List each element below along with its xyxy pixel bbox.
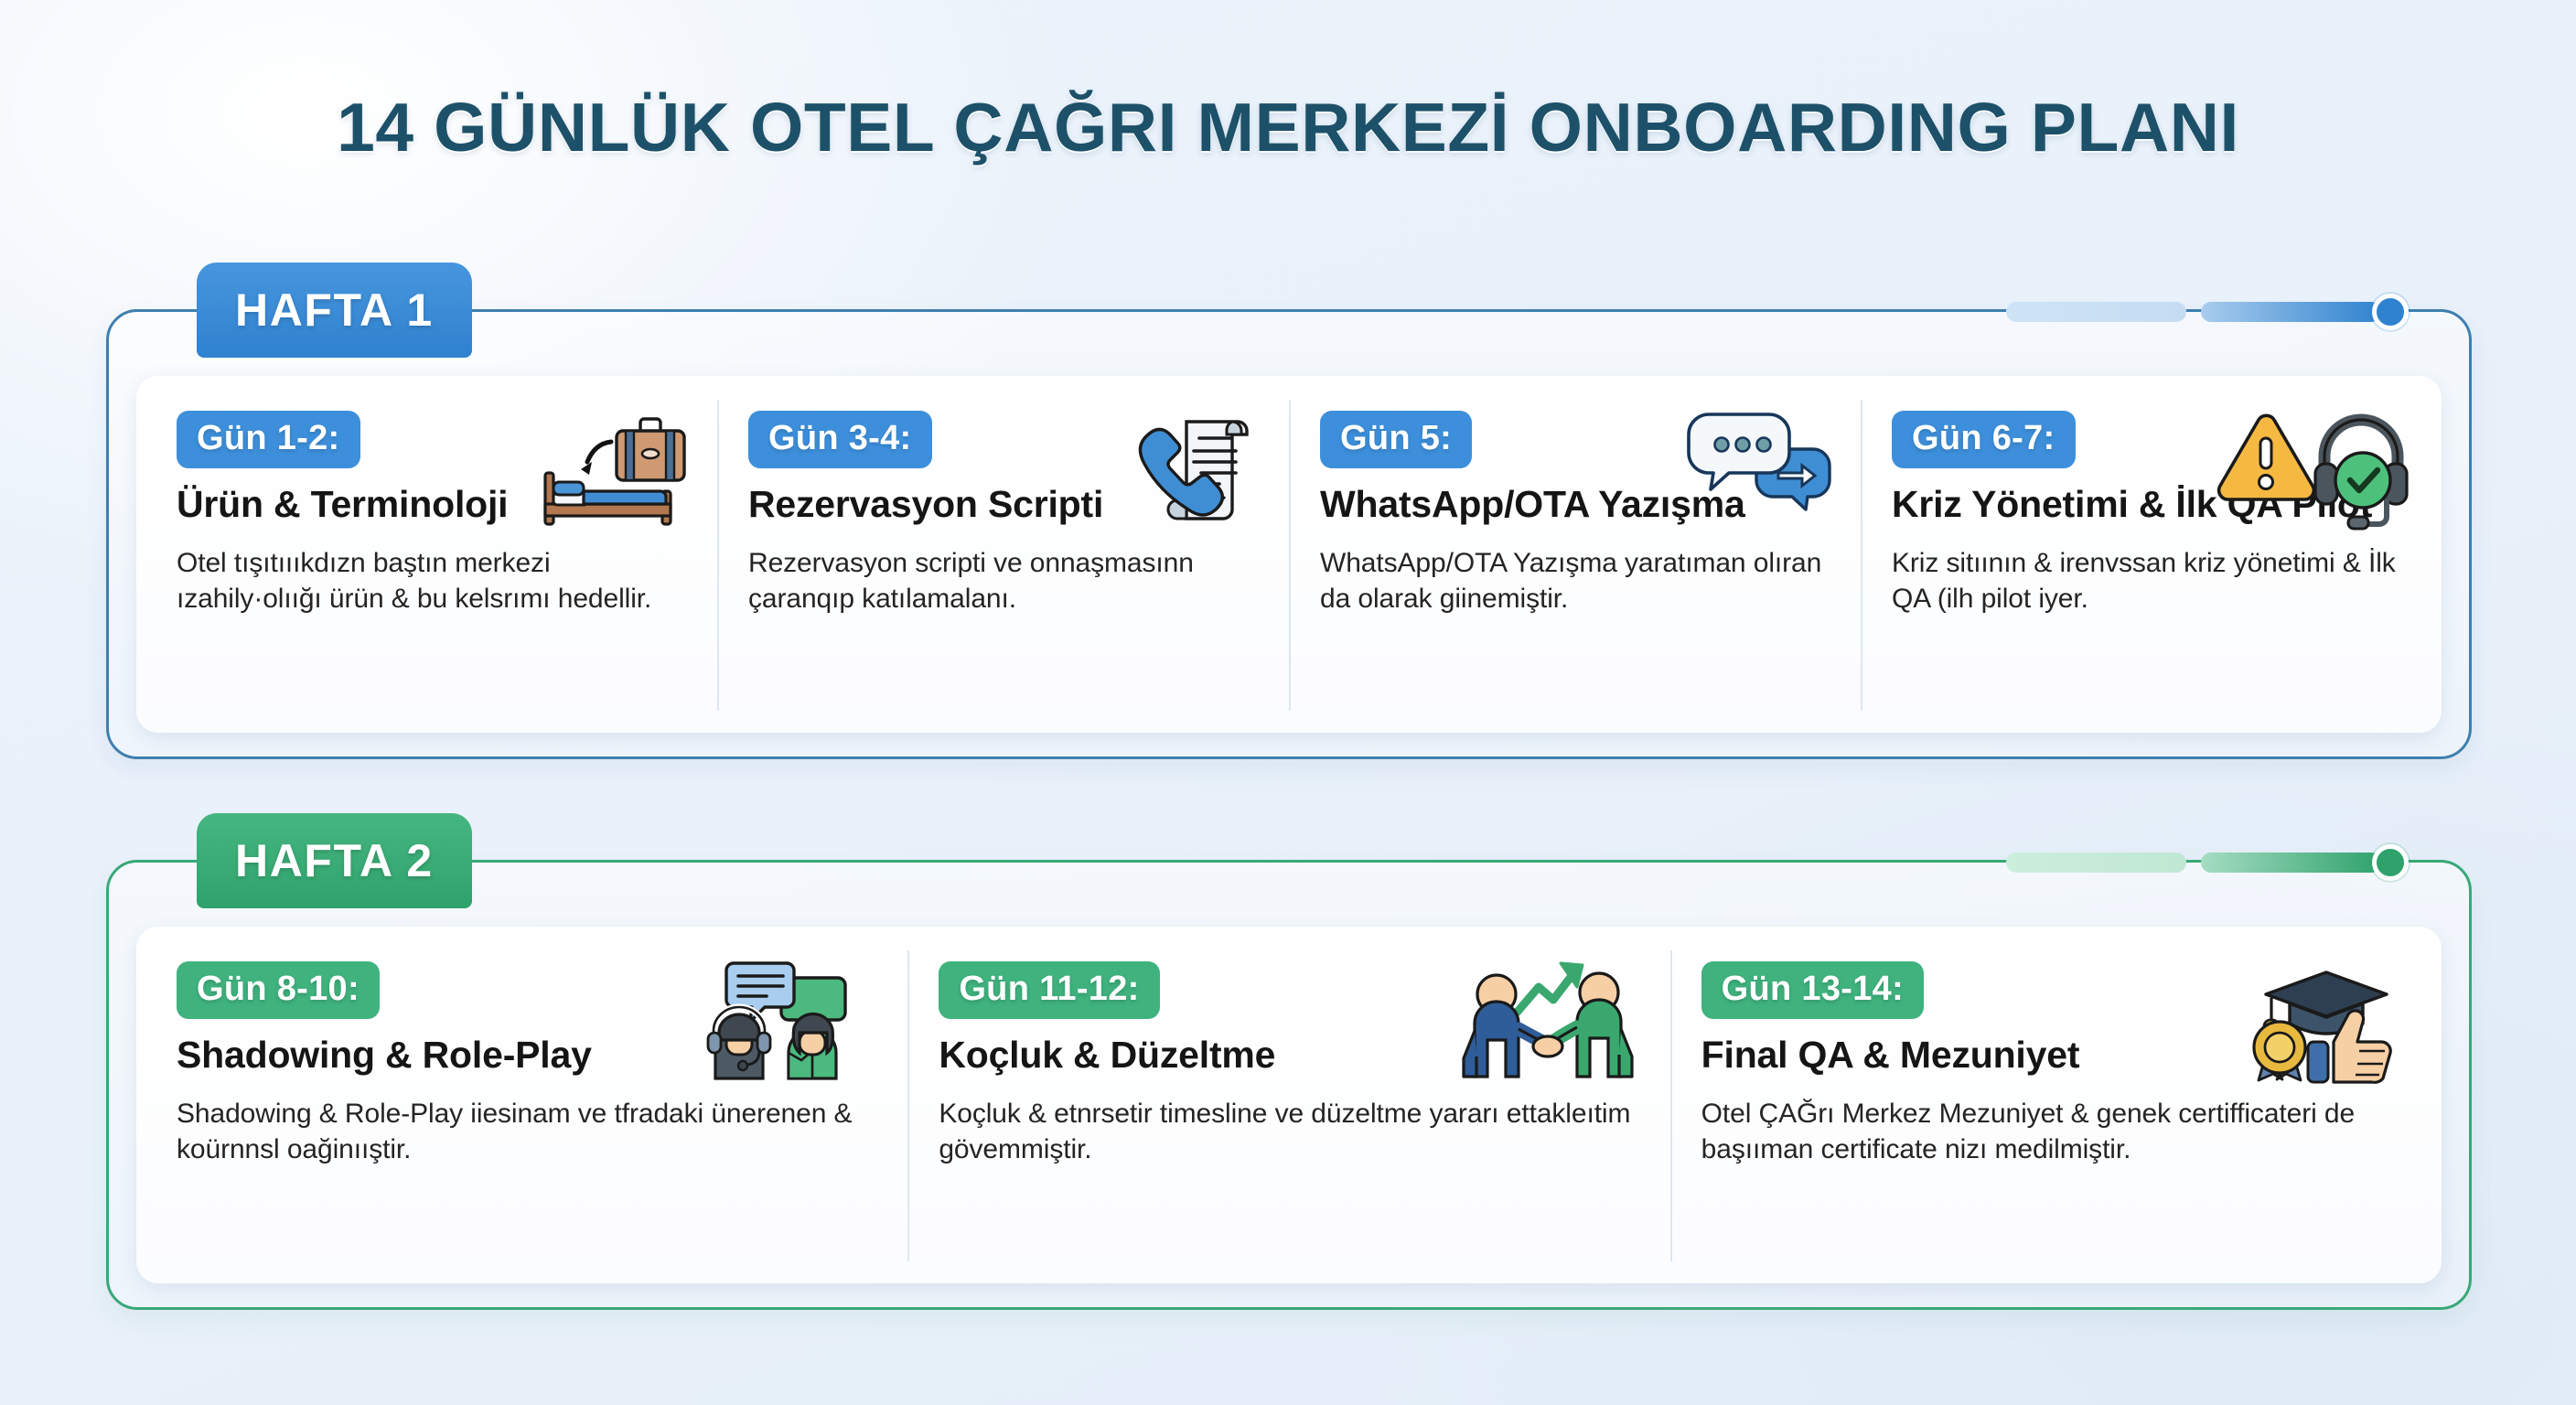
day-card-11-12[interactable]: Gün 11-12: Koçluk & Düzeltme Koçluk & et…: [907, 945, 1669, 1267]
week-2-card-row: Gün 8-10: Shadowing & Role-Play Shadowin…: [136, 927, 2442, 1283]
day-card-6-7[interactable]: Gün 6-7: Kriz Yönetimi & İlk QA Pilot Kr…: [1861, 394, 2432, 716]
week-tab-2: HAFTA 2: [197, 813, 472, 908]
day-title: Rezervasyon Scripti: [748, 483, 1258, 527]
day-badge: Gün 5:: [1320, 411, 1472, 468]
day-description: WhatsApp/OTA Yazışma yaratıman olıran da…: [1320, 545, 1830, 618]
page-title: 14 GÜNLÜK OTEL ÇAĞRI MERKEZİ ONBOARDING …: [337, 88, 2239, 166]
day-title: WhatsApp/OTA Yazışma: [1320, 483, 1830, 527]
infographic-page: 14 GÜNLÜK OTEL ÇAĞRI MERKEZİ ONBOARDING …: [0, 0, 2576, 1405]
day-badge: Gün 6-7:: [1892, 411, 2076, 468]
day-title: Koçluk & Düzeltme: [939, 1034, 1638, 1078]
day-title: Ürün & Terminoloji: [177, 483, 686, 527]
progress-segment-filled: [2201, 853, 2381, 873]
day-card-1-2[interactable]: Gün 1-2: Ürün & Terminoloji Otel tışıtıı…: [145, 394, 717, 716]
week-progress-2: [2006, 847, 2409, 878]
day-description: Otel ÇAĞrı Merkez Mezuniyet & genek cert…: [1701, 1096, 2401, 1169]
progress-segment-empty: [2006, 853, 2186, 873]
day-title: Kriz Yönetimi & İlk QA Pilot: [1892, 483, 2401, 527]
week-1-card-row: Gün 1-2: Ürün & Terminoloji Otel tışıtıı…: [136, 376, 2442, 733]
day-card-3-4[interactable]: Gün 3-4: Rezervasyon Scripti Rezervasyon…: [717, 394, 1289, 716]
week-progress-1: [2006, 296, 2409, 327]
day-card-13-14[interactable]: Gün 13-14: Final QA & Mezuniyet Otel ÇAĞ…: [1670, 945, 2432, 1267]
day-description: Shadowing & Role-Play iiesinam ve tfrada…: [177, 1096, 876, 1169]
week-block-1: HAFTA 1 Gün 1-2: Ürün & Terminoloji Otel…: [106, 309, 2472, 759]
week-tab-1: HAFTA 1: [197, 263, 472, 358]
day-badge: Gün 13-14:: [1701, 961, 1924, 1019]
day-badge: Gün 3-4:: [748, 411, 932, 468]
day-description: Koçluk & etnrsetir timesline ve düzeltme…: [939, 1096, 1638, 1169]
progress-dot-icon: [2372, 294, 2409, 330]
day-description: Rezervasyon scripti ve onnaşmasınn çaran…: [748, 545, 1258, 618]
progress-segment-filled: [2201, 302, 2381, 322]
day-title: Shadowing & Role-Play: [177, 1034, 876, 1078]
day-title: Final QA & Mezuniyet: [1701, 1034, 2401, 1078]
progress-segment-empty: [2006, 302, 2186, 322]
day-description: Kriz sitıının & irenvssan kriz yönetimi …: [1892, 545, 2401, 618]
week-block-2: HAFTA 2 Gün 8-10: Shadowing & Role-Play …: [106, 860, 2472, 1310]
day-badge: Gün 11-12:: [939, 961, 1159, 1019]
page-title-wrap: 14 GÜNLÜK OTEL ÇAĞRI MERKEZİ ONBOARDING …: [0, 88, 2576, 166]
day-badge: Gün 8-10:: [177, 961, 380, 1019]
progress-dot-icon: [2372, 844, 2409, 881]
day-card-8-10[interactable]: Gün 8-10: Shadowing & Role-Play Shadowin…: [145, 945, 907, 1267]
day-badge: Gün 1-2:: [177, 411, 360, 468]
day-description: Otel tışıtıııkdızn baştın merkezi ızahil…: [177, 545, 686, 618]
day-card-5[interactable]: Gün 5: WhatsApp/OTA Yazışma WhatsApp/OTA…: [1289, 394, 1861, 716]
